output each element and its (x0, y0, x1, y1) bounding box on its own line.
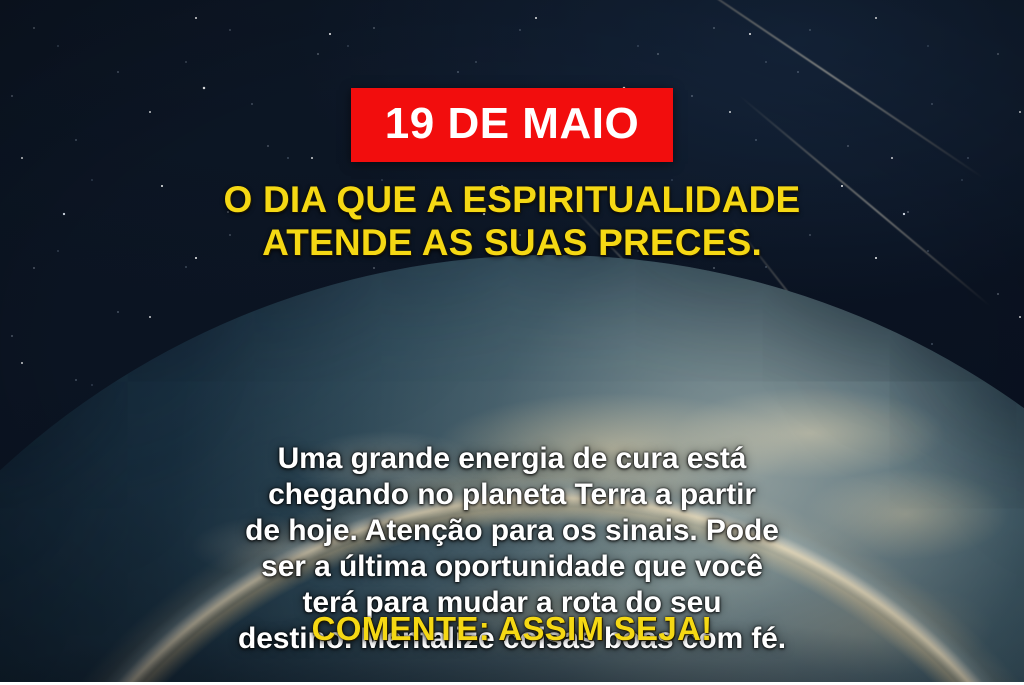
poster-content: 19 DE MAIO O DIA QUE A ESPIRITUALIDADE A… (0, 0, 1024, 685)
body-line-1: Uma grande energia de cura está (0, 441, 1024, 477)
body-line-4: ser a última oportunidade que você (0, 549, 1024, 585)
body-line-2: chegando no planeta Terra a partir (0, 477, 1024, 513)
poster-canvas: 19 DE MAIO O DIA QUE A ESPIRITUALIDADE A… (0, 0, 1024, 685)
call-to-action: COMENTE: ASSIM SEJA! (0, 612, 1024, 645)
body-line-3: de hoje. Atenção para os sinais. Pode (0, 513, 1024, 549)
date-banner: 19 DE MAIO (351, 88, 673, 162)
headline-line-2: ATENDE AS SUAS PRECES. (62, 222, 962, 265)
headline-line-1: O DIA QUE A ESPIRITUALIDADE (62, 179, 962, 222)
headline: O DIA QUE A ESPIRITUALIDADE ATENDE AS SU… (62, 179, 962, 265)
